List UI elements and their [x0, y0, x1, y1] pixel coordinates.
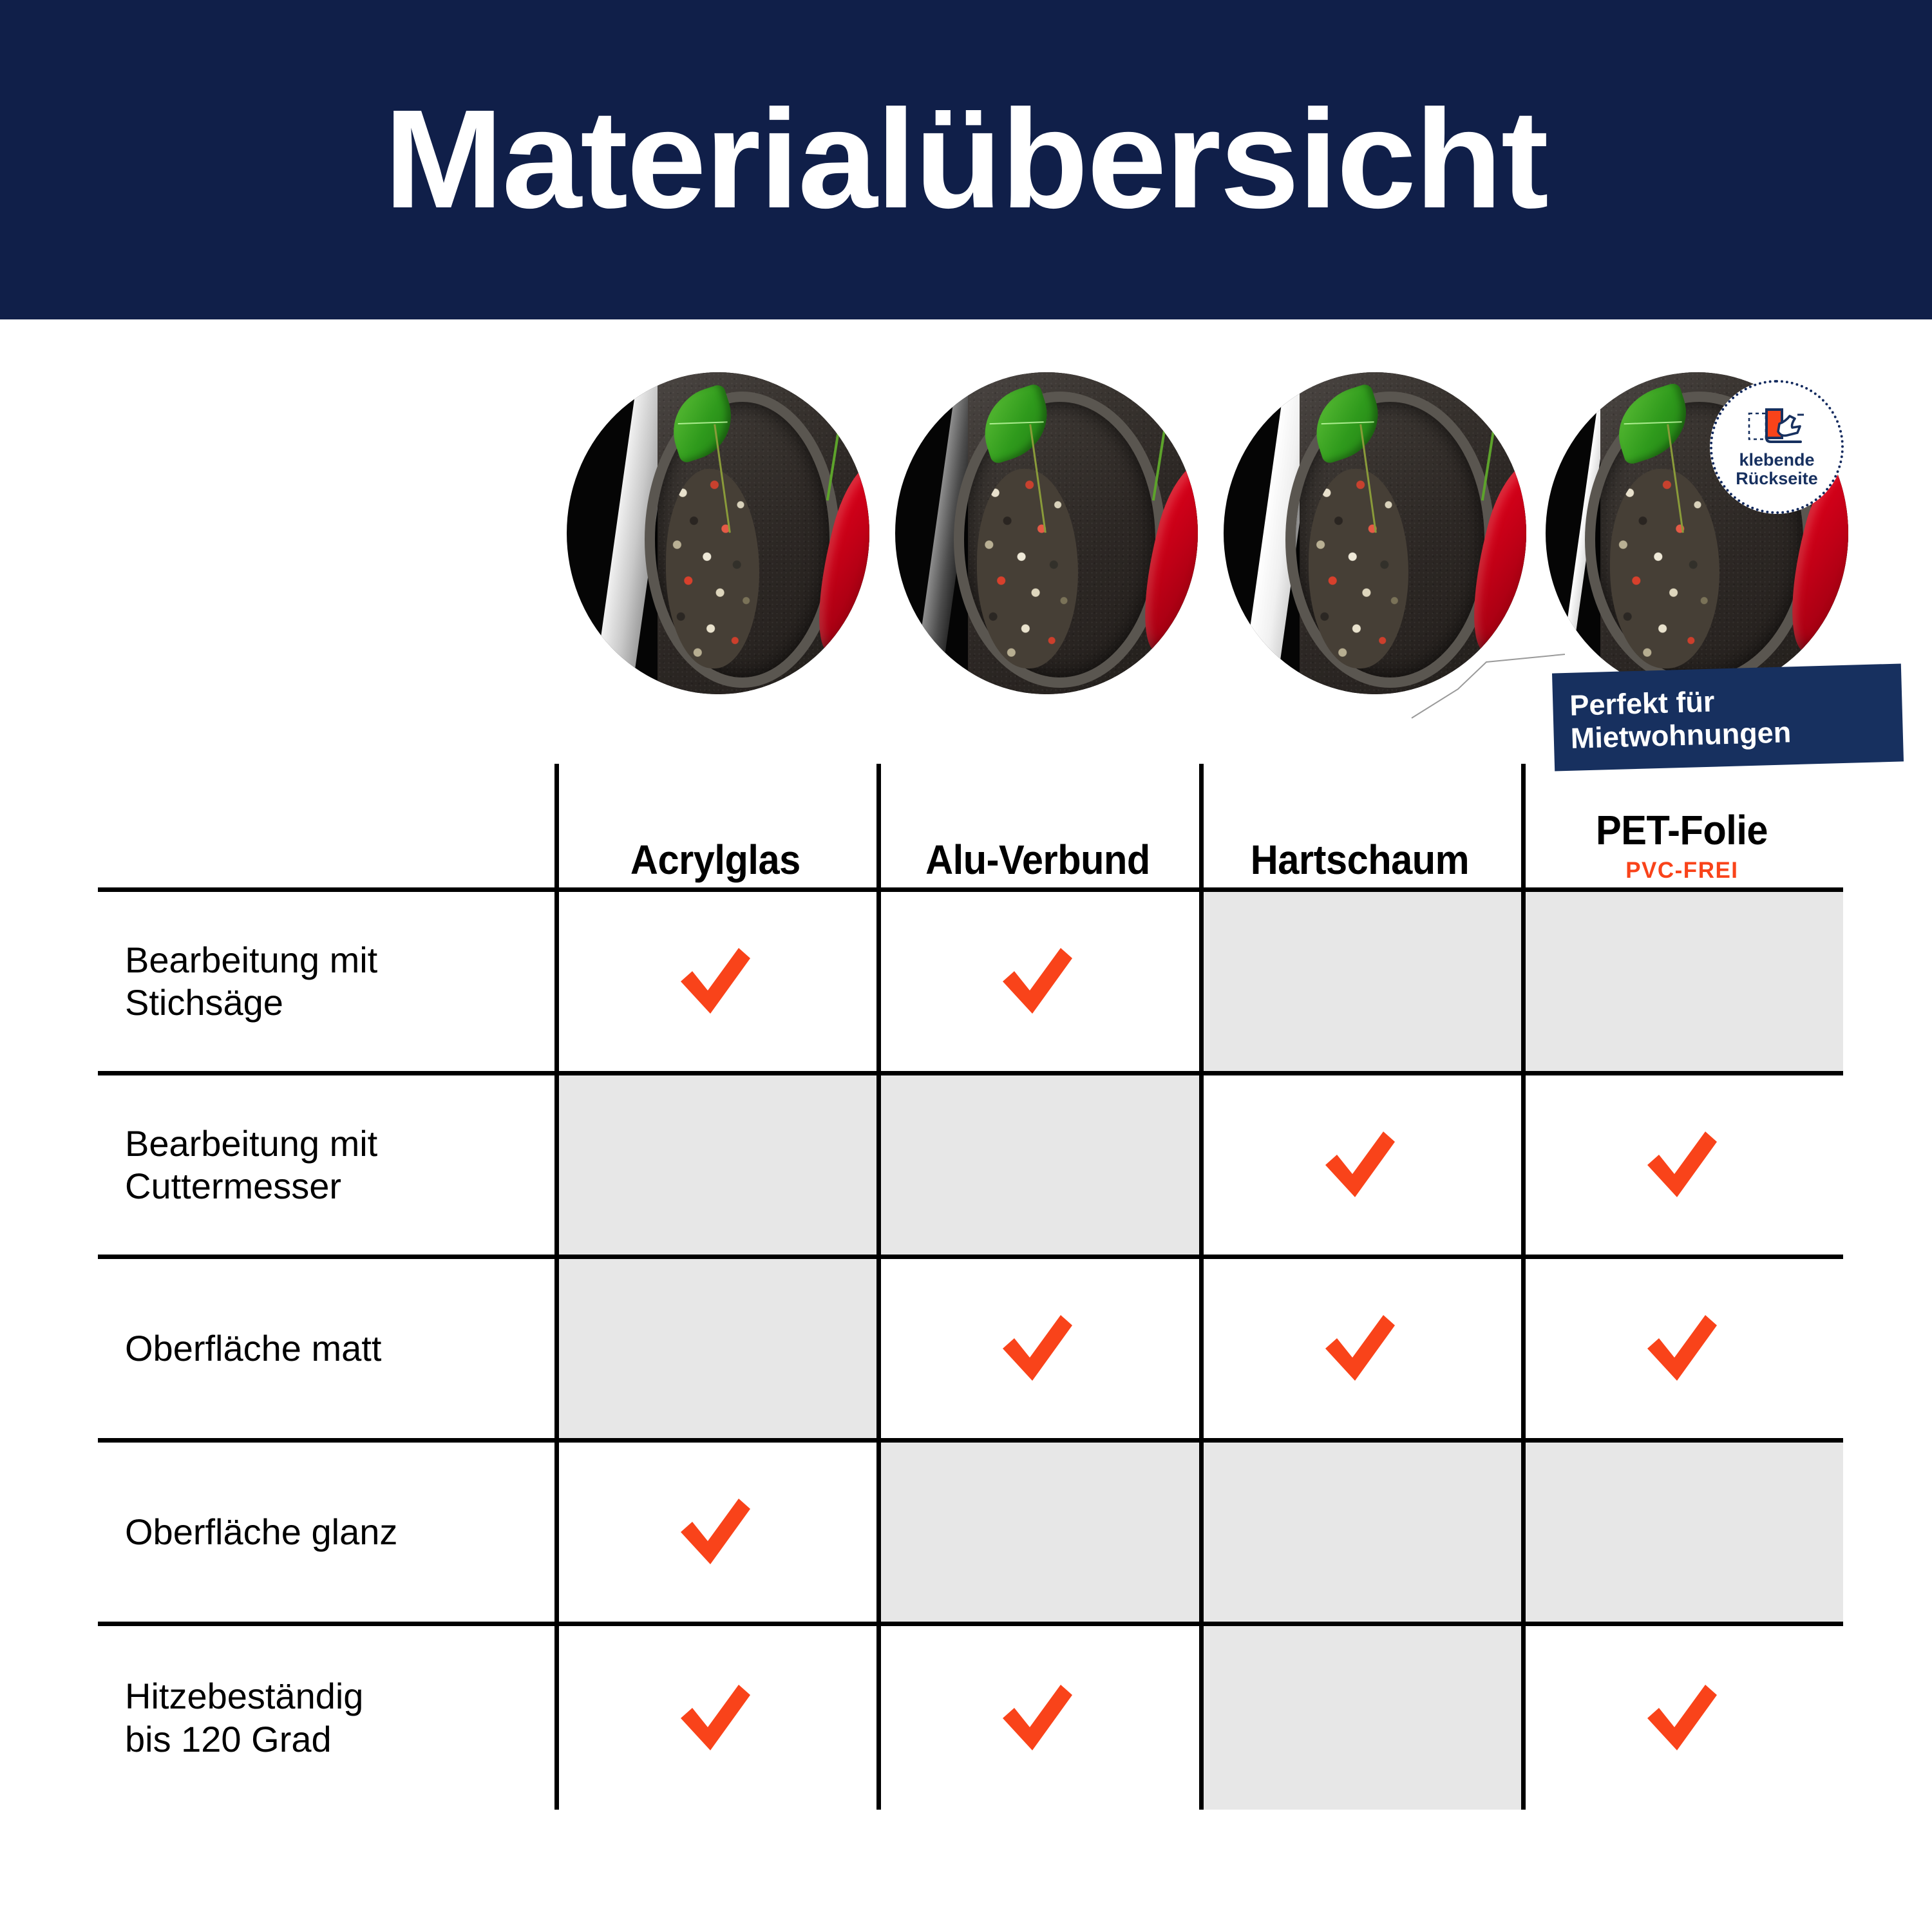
column-header-acrylglas: Acrylglas — [554, 764, 876, 887]
check-icon — [1641, 1680, 1723, 1757]
row-header-oberflaeche-glanz: Oberfläche glanz — [98, 1443, 554, 1622]
cell-glanz-hartschaum — [1199, 1443, 1521, 1622]
cell-cuttermesser-alu-verbund — [876, 1075, 1198, 1255]
product-photo — [1300, 372, 1527, 694]
column-subtitle-pvc-free: PVC-FREI — [1625, 858, 1738, 884]
column-header-pet-folie: PET-Folie PVC-FREI — [1521, 764, 1843, 887]
table-row: Bearbeitung mit Stichsäge — [98, 892, 1843, 1071]
cell-cuttermesser-hartschaum — [1199, 1075, 1521, 1255]
product-photo — [658, 372, 869, 694]
peppercorns — [1610, 469, 1719, 668]
cell-matt-alu-verbund — [876, 1259, 1198, 1438]
check-icon — [996, 1310, 1079, 1387]
row-label: Oberfläche glanz — [125, 1511, 397, 1553]
table-rule — [98, 1622, 1843, 1626]
check-icon — [674, 1680, 757, 1757]
row-label: Hitzebeständig bis 120 Grad — [125, 1675, 363, 1760]
cell-stichsaege-alu-verbund — [876, 892, 1198, 1071]
chili-stem — [826, 417, 842, 500]
check-icon — [1319, 1310, 1401, 1387]
check-icon — [674, 1493, 757, 1571]
table-row: Oberfläche glanz — [98, 1443, 1843, 1622]
row-header-hitzebestaendig: Hitzebeständig bis 120 Grad — [98, 1626, 554, 1810]
column-title: Alu-Verbund — [925, 836, 1150, 884]
check-icon — [674, 943, 757, 1020]
row-label-line2: bis 120 Grad — [125, 1719, 332, 1759]
check-icon — [996, 1680, 1079, 1757]
row-label: Oberfläche matt — [125, 1327, 381, 1370]
table-rule — [98, 1255, 1843, 1259]
row-label-line2: Stichsäge — [125, 982, 283, 1023]
row-header-oberflaeche-matt: Oberfläche matt — [98, 1259, 554, 1438]
cell-matt-acrylglas — [554, 1259, 876, 1438]
product-circle — [567, 372, 869, 694]
product-image-row: klebende Rückseite Perfekt für Mietwohnu… — [0, 0, 1932, 760]
rental-ribbon: Perfekt für Mietwohnungen — [1552, 663, 1904, 771]
product-circle — [1224, 372, 1526, 694]
cell-glanz-pet-folie — [1521, 1443, 1843, 1622]
column-title: PET-Folie — [1596, 806, 1768, 854]
table-row: Hitzebeständig bis 120 Grad — [98, 1626, 1843, 1810]
chili-stem — [1152, 417, 1168, 500]
chili-stem — [1481, 417, 1496, 500]
peel-sticker-icon — [1747, 406, 1806, 448]
peppercorns — [1309, 469, 1408, 668]
badge-label-line1: klebende — [1739, 451, 1814, 469]
product-photo — [968, 372, 1198, 694]
row-label-line2: Cuttermesser — [125, 1166, 341, 1206]
product-image-acrylglas — [567, 372, 869, 694]
table-row: Oberfläche matt — [98, 1259, 1843, 1438]
cell-cuttermesser-pet-folie — [1521, 1075, 1843, 1255]
cell-glanz-acrylglas — [554, 1443, 876, 1622]
product-circle — [895, 372, 1198, 694]
column-header-alu-verbund: Alu-Verbund — [876, 764, 1198, 887]
cell-hitze-hartschaum — [1199, 1626, 1521, 1810]
row-label-line1: Bearbeitung mit — [125, 1123, 377, 1164]
row-label-line1: Hitzebeständig — [125, 1676, 363, 1716]
cell-matt-hartschaum — [1199, 1259, 1521, 1438]
cell-hitze-acrylglas — [554, 1626, 876, 1810]
table-rule — [98, 1071, 1843, 1075]
badge-label-line2: Rückseite — [1736, 469, 1818, 488]
table-row: Bearbeitung mit Cuttermesser — [98, 1075, 1843, 1255]
cell-cuttermesser-acrylglas — [554, 1075, 876, 1255]
row-label: Bearbeitung mit Stichsäge — [125, 939, 377, 1024]
table-header-row: Acrylglas Alu-Verbund Hartschaum PET-Fol… — [98, 764, 1843, 887]
row-label-line1: Bearbeitung mit — [125, 940, 377, 980]
table-rule — [98, 1438, 1843, 1443]
table-corner-cell — [98, 764, 554, 887]
material-comparison-table: Acrylglas Alu-Verbund Hartschaum PET-Fol… — [98, 764, 1843, 1810]
column-title: Acrylglas — [630, 836, 800, 884]
material-overview-infographic: Materialübersicht — [0, 0, 1932, 1932]
row-header-cuttermesser: Bearbeitung mit Cuttermesser — [98, 1075, 554, 1255]
sticky-back-badge: klebende Rückseite — [1710, 380, 1844, 514]
cell-stichsaege-pet-folie — [1521, 892, 1843, 1071]
cell-hitze-pet-folie — [1521, 1626, 1843, 1810]
product-image-alu-verbund — [895, 372, 1198, 694]
ribbon-leader-line — [1410, 650, 1565, 721]
table-rule — [98, 887, 1843, 892]
column-header-hartschaum: Hartschaum — [1199, 764, 1521, 887]
cell-matt-pet-folie — [1521, 1259, 1843, 1438]
check-icon — [1319, 1126, 1401, 1204]
check-icon — [1641, 1310, 1723, 1387]
row-header-stichsaege: Bearbeitung mit Stichsäge — [98, 892, 554, 1071]
cell-stichsaege-acrylglas — [554, 892, 876, 1071]
check-icon — [996, 943, 1079, 1020]
row-label: Bearbeitung mit Cuttermesser — [125, 1122, 377, 1207]
cell-glanz-alu-verbund — [876, 1443, 1198, 1622]
cell-hitze-alu-verbund — [876, 1626, 1198, 1810]
product-image-hartschaum — [1224, 372, 1526, 694]
column-title: Hartschaum — [1251, 836, 1469, 884]
check-icon — [1641, 1126, 1723, 1204]
cell-stichsaege-hartschaum — [1199, 892, 1521, 1071]
